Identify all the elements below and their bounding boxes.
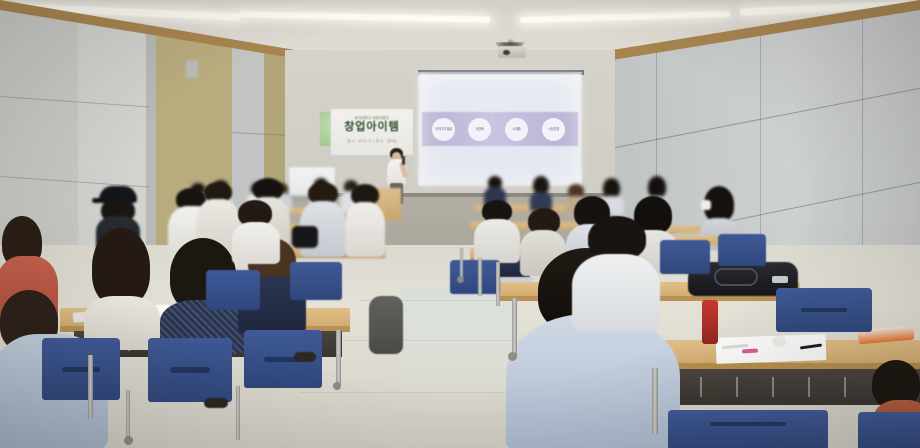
student-chair — [206, 270, 260, 310]
wall-speaker — [186, 60, 198, 78]
projector-lens-icon — [503, 50, 510, 55]
chair-caster — [457, 276, 464, 283]
panel-slot — [772, 377, 774, 397]
student — [345, 184, 385, 256]
student — [572, 216, 660, 328]
student — [530, 176, 552, 210]
panel-slot — [844, 377, 846, 397]
slide-bubble-label: 시제품 — [512, 128, 520, 132]
banner-subtitle: 한국대학교 창업지원단 — [331, 115, 413, 120]
shoe — [204, 398, 228, 408]
desk-leg — [512, 298, 517, 356]
desk-leg — [460, 248, 463, 278]
student-body — [232, 222, 280, 264]
slide-bubble: 아이디어 발굴 — [432, 118, 455, 141]
student-chair — [42, 338, 120, 400]
student — [232, 200, 280, 262]
lecture-hall-photo: 아이디어 발굴 사업화 시제품 시장진출 한국대학교 창업지원단 창업아이템 일… — [0, 0, 920, 448]
slide-bubble: 사업화 — [468, 118, 491, 141]
chair-leg — [236, 386, 240, 440]
slide-bubble-label: 아이디어 발굴 — [435, 128, 452, 132]
slide-bubble: 시제품 — [505, 118, 528, 141]
student-chair — [660, 240, 710, 274]
red-tumbler — [702, 300, 718, 344]
student-hair — [603, 178, 620, 198]
student-chair — [718, 234, 766, 266]
backpack-tag — [772, 276, 788, 283]
desk-leg — [336, 330, 341, 386]
chair-leg — [126, 390, 130, 440]
grey-backpack-on-floor — [369, 296, 403, 354]
desk-leg — [496, 262, 500, 306]
student-hair — [648, 176, 666, 198]
face-mask-icon — [701, 200, 711, 210]
desk-leg — [88, 355, 93, 419]
desk-leg — [652, 368, 658, 434]
chair-caster — [124, 436, 133, 445]
student-chair — [776, 288, 872, 332]
aisle-light-reflection — [399, 287, 518, 397]
chair-handle — [710, 422, 787, 426]
student-chair — [290, 262, 342, 300]
student-chair — [858, 412, 920, 448]
banner-footer: 일 시 : 2019. 6. | 장 소 : 강의실 — [331, 138, 413, 143]
chair-handle — [801, 308, 847, 312]
student-body — [572, 254, 660, 332]
student — [84, 228, 160, 346]
panel-slot — [736, 377, 738, 397]
panel-slot — [700, 377, 702, 397]
panel-slot — [808, 377, 810, 397]
chair-caster — [333, 382, 341, 390]
shoe — [294, 352, 316, 362]
student-hair — [92, 228, 150, 306]
student-chair — [668, 410, 828, 448]
student-body — [345, 202, 385, 257]
slide-bubble-label: 시장진출 — [548, 128, 559, 132]
chair-handle — [62, 367, 99, 373]
paper-sheet — [716, 334, 827, 364]
crumpled-tissue — [772, 336, 786, 347]
student-chair — [148, 338, 232, 402]
chair-handle — [170, 367, 210, 373]
banner-headline: 창업아이템 — [331, 122, 413, 133]
backpack-strap-icon — [714, 268, 758, 286]
chair-caster — [508, 352, 517, 361]
desk-leg — [478, 258, 482, 296]
slide-bubble: 시장진출 — [542, 118, 565, 141]
microphone-icon — [402, 156, 405, 165]
slide-bubble-label: 사업화 — [475, 128, 483, 132]
